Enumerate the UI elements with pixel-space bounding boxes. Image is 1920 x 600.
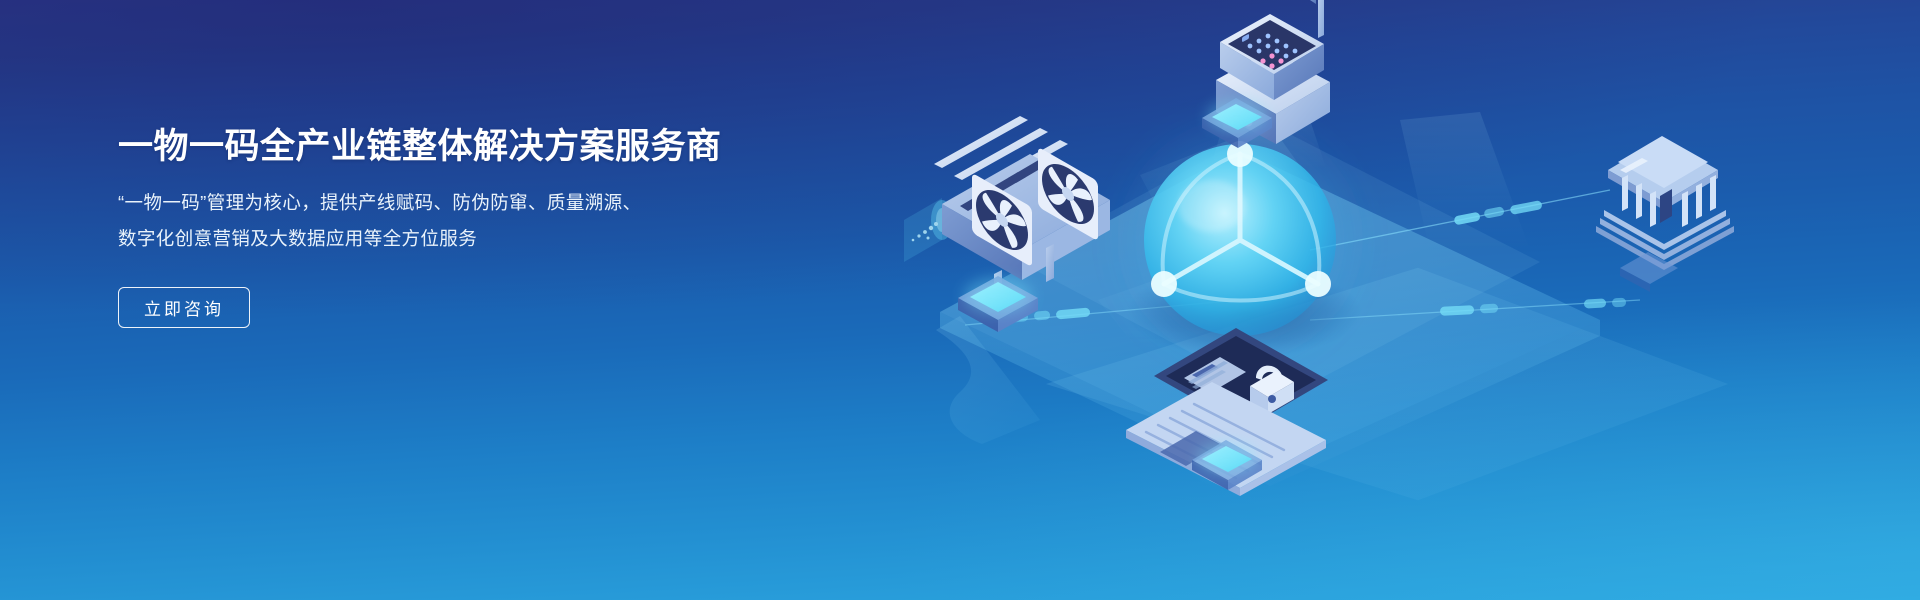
page-title: 一物一码全产业链整体解决方案服务商 (118, 126, 818, 169)
data-packet (1453, 200, 1542, 225)
isometric-illustration (840, 0, 1920, 600)
bank-icon (1596, 136, 1734, 270)
sphere-shadow (1126, 266, 1362, 358)
platform-stack (936, 124, 1728, 500)
airflow-particles (904, 198, 953, 262)
cta-wrapper: 立即咨询 (118, 287, 818, 328)
data-packet (1008, 308, 1091, 323)
fan (1038, 147, 1098, 242)
pedestal (1192, 440, 1262, 490)
hero-copy: 一物一码全产业链整体解决方案服务商 “一物一码”管理为核心，提供产线赋码、防伪防… (118, 126, 818, 328)
data-packet (1440, 298, 1626, 316)
pedestal (1202, 98, 1272, 148)
cash-register-icon (1210, 0, 1360, 168)
pedestal (958, 276, 1038, 332)
fan (972, 173, 1032, 268)
laptop-lock-icon (1126, 328, 1328, 496)
network-globe-icon (1108, 108, 1372, 372)
consult-now-button[interactable]: 立即咨询 (118, 287, 250, 328)
data-link-lines (965, 190, 1640, 325)
subtitle-line-2: 数字化创意营销及大数据应用等全方位服务 (118, 221, 818, 257)
light-beams (1098, 112, 1530, 352)
pedestal (1620, 252, 1678, 292)
hero-banner: 一物一码全产业链整体解决方案服务商 “一物一码”管理为核心，提供产线赋码、防伪防… (0, 0, 1920, 600)
subtitle-line-1: “一物一码”管理为核心，提供产线赋码、防伪防窜、质量溯源、 (118, 185, 818, 221)
server-fan-icon (904, 116, 1110, 308)
padlock-icon (1250, 366, 1294, 414)
